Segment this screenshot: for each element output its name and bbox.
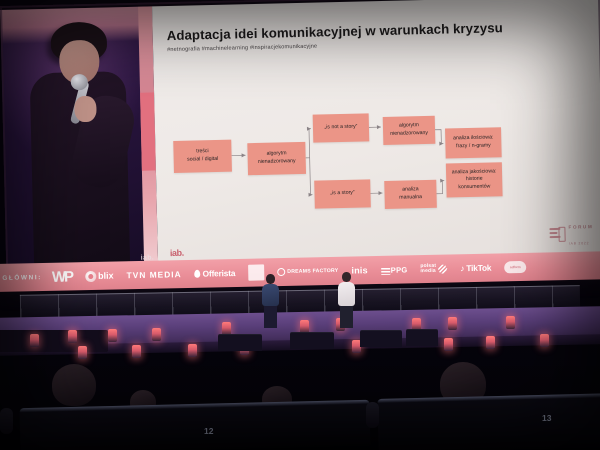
stage-uplight <box>506 316 515 329</box>
stage-monitor <box>218 334 262 351</box>
audience-head <box>52 364 96 406</box>
speaker-head <box>266 274 275 284</box>
forum-logo-line2: IAB 2022 <box>569 241 589 245</box>
speaker-legs <box>264 306 277 328</box>
forum-logo-text: FORUM IAB 2022 <box>568 216 594 249</box>
seat-top-edge <box>377 393 600 403</box>
sponsor-logo-tiktok-text: TikTok <box>466 263 491 274</box>
flow-node-qualitative: analiza jakościowa:historiekonsumentów <box>446 162 503 197</box>
seat-number-12: 12 <box>204 426 213 436</box>
stage-uplight <box>188 344 197 357</box>
flow-connectors <box>152 0 600 264</box>
flow-node-algorithm-1: algorytmnienadzorowany <box>247 142 306 175</box>
sponsor-banner-label: GŁÓWNI: <box>2 274 42 282</box>
screen-surface: iab. Adaptacja idei komunikacyjnej w war… <box>0 0 600 268</box>
sponsor-logo-list: WP blix TVN MEDIA Offerista DREAMS FACTO… <box>52 257 600 286</box>
stage-uplight <box>132 345 141 358</box>
projection-screen: iab. Adaptacja idei komunikacyjnej w war… <box>0 0 600 268</box>
music-note-icon: ♪ <box>460 263 464 273</box>
seat-number-13: 13 <box>542 413 551 423</box>
sponsor-logo-blix-text: blix <box>98 271 114 281</box>
forum-event-logo: FORUM IAB 2022 <box>549 216 594 249</box>
sponsor-logo-polsat-text: polsatmedia <box>420 264 436 275</box>
conference-photo: iab. Adaptacja idei komunikacyjnej w war… <box>0 0 600 450</box>
sponsor-logo-cloud: adform <box>504 261 526 273</box>
speaker-hand <box>74 96 97 123</box>
speaker-video-figure <box>18 21 142 268</box>
speaker-legs <box>340 306 353 328</box>
stage-uplight <box>68 330 77 343</box>
stage-uplight <box>108 329 117 342</box>
seat-armrest-knob <box>366 402 379 428</box>
forum-mark-icon <box>550 226 566 239</box>
sponsor-logo-offerista-text: Offerista <box>203 268 236 279</box>
flow-node-quantitative: analiza ilościowa:frazy / n-gramy <box>445 127 502 158</box>
audience-seat-back[interactable] <box>19 400 370 450</box>
audience-foreground: 12 13 <box>0 366 600 450</box>
stage-monitor <box>406 329 438 346</box>
flow-node-manual-analysis: analizamanualna <box>384 180 437 209</box>
stage-uplight <box>540 334 549 347</box>
sponsor-logo-offerista: Offerista <box>195 268 236 279</box>
stage-uplight <box>30 334 39 347</box>
sponsor-logo-ppg: PPG <box>381 265 408 275</box>
sponsor-logo-wp: WP <box>52 268 73 285</box>
audience-seat-back[interactable] <box>377 393 600 450</box>
stage-uplight <box>486 336 495 349</box>
sponsor-logo-ppg-text: PPG <box>391 265 408 274</box>
speaker-head <box>342 272 351 282</box>
ppg-bars-icon <box>381 267 390 274</box>
flow-diagram: treścisocial / digital algorytmnienadzor… <box>152 0 600 264</box>
sponsor-logo-blix: blix <box>85 270 114 282</box>
flow-node-algorithm-2: algorytmnienadzorowany <box>383 116 436 145</box>
sponsor-logo-polsat-media: polsatmedia <box>420 263 447 274</box>
stage-uplight <box>448 317 457 330</box>
seat-armrest-knob <box>0 408 13 434</box>
stage-monitor <box>290 332 334 349</box>
polsat-swirl-icon <box>438 264 447 273</box>
flow-node-source: treścisocial / digital <box>173 140 232 173</box>
presentation-slide: Adaptacja idei komunikacyjnej w warunkac… <box>152 0 600 264</box>
sponsor-logo-tiktok: ♪ TikTok <box>460 263 491 274</box>
stage-uplight <box>444 338 453 351</box>
blix-disc-icon <box>85 270 96 281</box>
location-pin-icon <box>195 270 201 278</box>
stage-uplight <box>152 328 161 341</box>
speaker-torso <box>338 282 355 306</box>
sponsor-logo-tvn-media: TVN MEDIA <box>126 269 181 280</box>
stage-area <box>0 290 600 370</box>
forum-logo-line1: FORUM <box>568 224 593 230</box>
speaker-torso <box>262 284 279 306</box>
stage-speaker-right <box>338 272 355 328</box>
stage-monitor <box>360 330 402 347</box>
live-camera-panel: iab. <box>0 6 158 268</box>
sponsor-logo-dreams-factory: DREAMS FACTORY <box>277 267 338 276</box>
stage-speaker-left <box>262 274 279 328</box>
flow-node-is-not-a-story: „is not a story” <box>313 113 370 142</box>
stage-uplight <box>78 346 87 359</box>
sponsor-logo-dreams-factory-text: DREAMS FACTORY <box>287 268 338 275</box>
iab-logo: iab. <box>170 248 184 258</box>
flow-node-is-a-story: „is a story” <box>314 179 371 208</box>
stage-riser-left <box>0 330 108 352</box>
